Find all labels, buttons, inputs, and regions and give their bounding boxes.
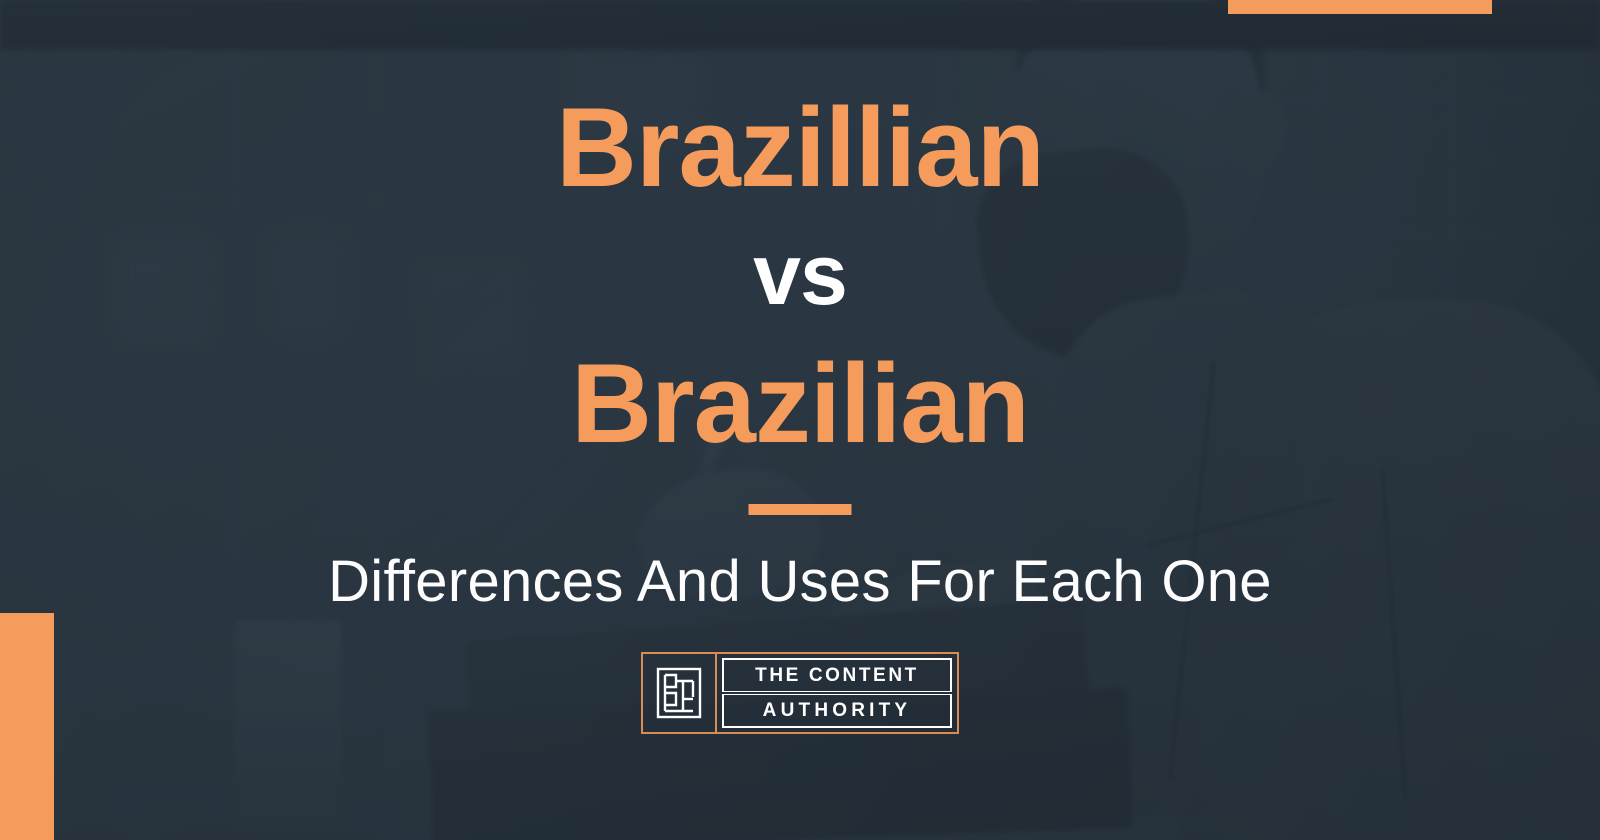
maze-square-icon bbox=[656, 667, 702, 719]
hero-versus-label: vs bbox=[0, 232, 1600, 318]
logo-text-line-1: THE CONTENT bbox=[722, 658, 952, 692]
orange-divider-rule bbox=[749, 504, 852, 515]
logo-wordmark: THE CONTENT AUTHORITY bbox=[717, 654, 957, 732]
logo-mark bbox=[643, 654, 717, 732]
poster-canvas: Brazillian vs Brazilian Differences And … bbox=[0, 0, 1600, 840]
hero-content: Brazillian vs Brazilian Differences And … bbox=[0, 0, 1600, 840]
hero-subtitle: Differences And Uses For Each One bbox=[0, 550, 1600, 614]
brand-logo[interactable]: THE CONTENT AUTHORITY bbox=[641, 652, 959, 734]
logo-text-line-2: AUTHORITY bbox=[722, 694, 952, 728]
hero-title-line-1: Brazillian bbox=[0, 92, 1600, 204]
hero-title-line-2: Brazilian bbox=[0, 348, 1600, 460]
